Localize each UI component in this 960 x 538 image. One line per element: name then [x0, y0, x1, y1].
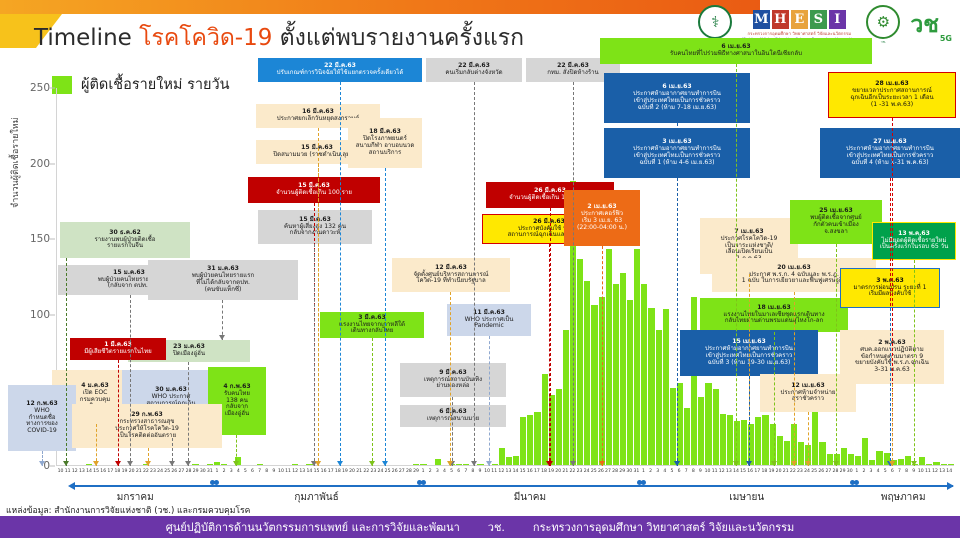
- event-box-e36[interactable]: 27 เม.ย.63ประกาศห้ามอากาศยานทำการบินเข้า…: [820, 128, 960, 178]
- x-tick-label: 11: [285, 469, 292, 480]
- x-tick-label: 27: [825, 469, 832, 480]
- x-tick-label: 22: [363, 469, 370, 480]
- x-tick-label: 1: [420, 469, 427, 480]
- x-tick-label: 8: [263, 469, 270, 480]
- event-box-e21[interactable]: 22 มี.ค.63ปรับเกณฑ์การวินิจฉัยให้ใช้แยกต…: [258, 58, 422, 82]
- x-tick-label: 27: [398, 469, 405, 480]
- month-divider-dot: [421, 480, 426, 485]
- event-connector-line: [677, 178, 678, 466]
- x-tick-label: 16: [747, 469, 754, 480]
- event-box-e11[interactable]: 3 มี.ค.63แรงงานไทยจากเกาหลีใต้เดินทางกลั…: [320, 312, 424, 338]
- x-tick-label: 28: [405, 469, 412, 480]
- event-box-e35[interactable]: 28 เม.ย.63ขยายเวลาประกาศสถานการณ์ฉุกเฉิน…: [828, 72, 956, 118]
- y-tick-mark-250: [49, 88, 55, 89]
- event-connector-line: [385, 168, 386, 466]
- x-tick-label: 15: [313, 469, 320, 480]
- x-tick-label: 22: [142, 469, 149, 480]
- x-tick-label: 14: [306, 469, 313, 480]
- bar: [563, 330, 569, 465]
- event-connector-arrow: [115, 461, 121, 466]
- x-tick-label: 25: [811, 469, 818, 480]
- x-tick-label: 31: [206, 469, 213, 480]
- x-tick-label: 11: [491, 469, 498, 480]
- x-tick-label: 23: [149, 469, 156, 480]
- event-box-e37[interactable]: 25 เม.ย.63พบผู้ติดเชื้อจากศูนย์กักตัวคนเ…: [790, 200, 882, 244]
- x-tick-label: 20: [128, 469, 135, 480]
- event-connector-line: [66, 258, 67, 466]
- event-box-e13[interactable]: 9 มี.ค.63เหตุการณ์สถานบันเทิงย่านทองหล่อ: [400, 363, 506, 397]
- event-connector-line: [318, 128, 319, 466]
- event-connector-line: [474, 82, 475, 466]
- bar: [627, 300, 633, 465]
- x-tick-label: 14: [85, 469, 92, 480]
- x-tick-label: 8: [690, 469, 697, 480]
- x-tick-label: 22: [789, 469, 796, 480]
- event-box-e14[interactable]: 11 มี.ค.63WHO ประกาศเป็นPandemic: [447, 304, 531, 336]
- event-box-e16[interactable]: 15 มี.ค.63จำนวนผู้ติดเชื้อเกิน 100 ราย: [248, 177, 380, 203]
- bar: [784, 441, 790, 465]
- footer-right-text: กระทรวงการอุดมศึกษา วิทยาศาสตร์ วิจัยและ…: [533, 518, 794, 536]
- x-tick-label: 7: [462, 469, 469, 480]
- x-tick-label: 14: [512, 469, 519, 480]
- x-tick-label: 13: [299, 469, 306, 480]
- x-tick-label: 14: [732, 469, 739, 480]
- bar: [713, 389, 719, 465]
- x-tick-label: 12: [498, 469, 505, 480]
- event-connector-arrow: [746, 461, 752, 466]
- x-tick-label: 25: [590, 469, 597, 480]
- bar: [513, 456, 519, 465]
- header-accent-bar-orange: [0, 0, 760, 14]
- event-connector-arrow: [93, 461, 99, 466]
- bar: [876, 451, 882, 465]
- x-tick-label: 6: [676, 469, 683, 480]
- x-tick-label: 20: [348, 469, 355, 480]
- bar: [684, 408, 690, 465]
- event-connector-line: [602, 246, 603, 466]
- bar: [520, 417, 526, 465]
- title-highlight: โรคโควิด-19: [139, 25, 272, 51]
- y-tick-mark-200: [49, 163, 55, 164]
- bar: [648, 308, 654, 465]
- bar: [862, 438, 868, 465]
- event-box-e26[interactable]: 2 เม.ย.63ประกาศเคอร์ฟิวเริ่ม 3 เม.ย. 63(…: [564, 190, 640, 246]
- bar: [941, 464, 947, 466]
- event-box-e20[interactable]: 18 มี.ค.63ปิดโรงภาพยนตร์สนามกีฬา อาบอบนว…: [348, 118, 422, 168]
- event-box-e28[interactable]: 6 เม.ย.63ประกาศห้ามอากาศยานทำการบินเข้าส…: [604, 73, 750, 123]
- event-connector-arrow: [185, 461, 191, 466]
- x-tick-label: 28: [185, 469, 192, 480]
- y-tick-mark-100: [49, 314, 55, 315]
- event-connector-line: [452, 397, 453, 466]
- bar: [413, 464, 419, 466]
- event-text: ย่านทองหล่อ: [403, 383, 503, 390]
- bar: [257, 464, 263, 466]
- x-tick-label: 21: [356, 469, 363, 480]
- mhesi-letter-h: H: [772, 10, 789, 29]
- bar: [192, 464, 198, 466]
- x-tick-label: 19: [548, 469, 555, 480]
- x-tick-label: 29: [839, 469, 846, 480]
- bar: [534, 412, 540, 465]
- event-connector-line: [736, 64, 737, 466]
- x-tick-label: 27: [178, 469, 185, 480]
- x-tick-label: 2: [647, 469, 654, 480]
- x-tick-label: 25: [164, 469, 171, 480]
- x-tick-label: 21: [562, 469, 569, 480]
- event-connector-line: [892, 384, 893, 466]
- event-text: COVID-19: [11, 428, 73, 435]
- bar: [663, 309, 669, 465]
- y-tick-200: 200: [30, 158, 50, 170]
- bar: [86, 464, 92, 466]
- event-connector-arrow: [233, 461, 239, 466]
- event-connector-arrow: [127, 461, 133, 466]
- event-connector-arrow: [145, 461, 151, 466]
- event-connector-arrow: [337, 461, 343, 466]
- bar: [420, 464, 426, 466]
- x-tick-label: 12: [718, 469, 725, 480]
- x-tick-label: 3: [867, 469, 874, 480]
- y-tick-mark-150: [49, 239, 55, 240]
- month-label-2: มีนาคม: [514, 490, 546, 505]
- event-connector-line: [96, 424, 97, 466]
- event-connector-arrow: [486, 461, 492, 466]
- x-tick-label: 29: [619, 469, 626, 480]
- x-tick-label: 15: [740, 469, 747, 480]
- bar: [741, 420, 747, 465]
- y-tick-250: 250: [30, 82, 50, 94]
- event-connector-line: [808, 412, 809, 466]
- x-tick-label: 23: [370, 469, 377, 480]
- x-tick-label: 9: [697, 469, 704, 480]
- x-tick-label: 12: [931, 469, 938, 480]
- x-tick-label: 29: [412, 469, 419, 480]
- bar: [527, 415, 533, 465]
- x-tick-label: 5: [242, 469, 249, 480]
- event-text: จำนวนผู้ติดเชื้อเกิน 100 ราย: [251, 190, 377, 197]
- bar: [620, 273, 626, 465]
- x-tick-label: 13: [78, 469, 85, 480]
- bar: [819, 442, 825, 465]
- x-axis-month-axis: มกราคมกุมภาพันธ์มีนาคมเมษายนพฤษภาคม: [57, 481, 953, 503]
- month-axis-arrow: [75, 485, 953, 487]
- bar: [933, 462, 939, 465]
- x-axis-day-labels: 1011121314151617181920212223242526272829…: [57, 469, 953, 480]
- event-text: จ.สงขลา: [793, 229, 879, 236]
- x-tick-label: 11: [924, 469, 931, 480]
- bar: [720, 414, 726, 465]
- event-connector-arrow: [447, 461, 453, 466]
- x-tick-label: 17: [533, 469, 540, 480]
- event-box-e27[interactable]: 6 เม.ย.63รับคนไทยที่ไปร่วมพิธีทางศาสนาใน…: [600, 38, 872, 64]
- x-tick-label: 18: [540, 469, 547, 480]
- event-connector-arrow: [599, 461, 605, 466]
- bar: [542, 374, 548, 465]
- bar: [869, 460, 875, 465]
- event-box-e1[interactable]: 30 ธ.ค.62รายงานพบผู้ป่วยติดเชื้อรายแรกใน…: [60, 222, 190, 258]
- x-tick-label: 2: [221, 469, 228, 480]
- bar: [456, 464, 462, 466]
- x-tick-label: 5: [668, 469, 675, 480]
- event-connector-arrow: [570, 461, 576, 466]
- x-tick-label: 26: [391, 469, 398, 480]
- event-text: Pandemic: [450, 323, 528, 330]
- event-connector-arrow: [382, 461, 388, 466]
- x-tick-label: 10: [277, 469, 284, 480]
- event-connector-arrow: [169, 461, 175, 466]
- event-text: เป็นครั้งแรกในรอบ 65 วัน: [876, 244, 952, 251]
- event-box-e3[interactable]: 31 ม.ค.63พบผู้ป่วยคนไทยรายแรกที่ไม่ได้กล…: [148, 260, 298, 300]
- event-text: (22:00-04:00 น.): [567, 225, 637, 232]
- x-tick-label: 15: [519, 469, 526, 480]
- event-text: กลับจากงานดาวะห์: [261, 230, 369, 237]
- event-connector-arrow: [471, 461, 477, 466]
- x-tick-label: 12: [71, 469, 78, 480]
- x-tick-label: 21: [782, 469, 789, 480]
- bar: [506, 457, 512, 465]
- x-tick-label: 19: [121, 469, 128, 480]
- event-text: สุราชั่วคราว: [763, 396, 853, 403]
- x-tick-label: 3: [228, 469, 235, 480]
- x-tick-label: 9: [270, 469, 277, 480]
- bar: [556, 389, 562, 465]
- x-tick-label: 30: [199, 469, 206, 480]
- event-connector-line: [774, 332, 775, 466]
- bar: [848, 454, 854, 465]
- event-connector-arrow: [369, 461, 375, 466]
- event-text: คนเริ่มกลับต่างจังหวัด: [429, 70, 519, 77]
- bar: [214, 462, 220, 465]
- bar: [755, 417, 761, 465]
- x-tick-label: 1: [853, 469, 860, 480]
- x-tick-label: 18: [761, 469, 768, 480]
- nrct-emblem-icon: ⚙: [866, 5, 900, 39]
- event-connector-line: [314, 244, 315, 466]
- bar: [221, 464, 227, 466]
- footer-left-text: ศูนย์ปฏิบัติการด้านนวัตกรรมการแพทย์ และก…: [166, 518, 460, 536]
- x-tick-label: 4: [235, 469, 242, 480]
- bar: [827, 454, 833, 465]
- event-box-e32[interactable]: 18 เม.ย.63แรงงานไทยในมาเลเซียชุดแรกเดินท…: [700, 298, 848, 332]
- bar: [492, 464, 498, 466]
- x-tick-label: 28: [612, 469, 619, 480]
- x-tick-label: 1: [213, 469, 220, 480]
- x-tick-label: 5: [882, 469, 889, 480]
- event-connector-arrow: [733, 461, 739, 466]
- bar: [777, 436, 783, 465]
- event-connector-line: [340, 82, 341, 466]
- bar: [841, 448, 847, 465]
- event-box-e9[interactable]: 29 ก.พ.63กระทรวงสาธารณสุขประกาศให้โรคโคว…: [72, 404, 222, 448]
- x-tick-label: 9: [910, 469, 917, 480]
- x-tick-label: 15: [93, 469, 100, 480]
- event-text: กลับไทยผ่านด่านพรมแดนสุไหงโก-ลก: [703, 318, 845, 325]
- mhesi-letter-m: M: [753, 10, 770, 29]
- x-tick-label: 1: [640, 469, 647, 480]
- event-connector-line: [118, 360, 119, 466]
- event-connector-line: [794, 292, 795, 466]
- event-connector-line: [222, 300, 223, 340]
- event-box-e22[interactable]: 22 มี.ค.63คนเริ่มกลับต่างจังหวัด: [426, 58, 522, 82]
- bar: [705, 383, 711, 465]
- bar: [584, 281, 590, 465]
- month-label-1: กุมภาพันธ์: [294, 490, 338, 505]
- event-connector-arrow: [674, 461, 680, 466]
- x-tick-label: 26: [818, 469, 825, 480]
- x-tick-label: 18: [114, 469, 121, 480]
- x-tick-label: 16: [100, 469, 107, 480]
- event-text: ฉบับที่ 4 (ห้าม 1-31 พ.ค.63): [823, 160, 957, 167]
- x-tick-label: 24: [377, 469, 384, 480]
- x-tick-label: 3: [434, 469, 441, 480]
- x-tick-label: 13: [725, 469, 732, 480]
- x-tick-label: 22: [569, 469, 576, 480]
- event-connector-line: [749, 376, 750, 466]
- x-tick-label: 21: [135, 469, 142, 480]
- event-connector-arrow: [219, 335, 225, 340]
- event-text: มีผู้เสียชีวิตรายแรกในไทย: [73, 349, 163, 356]
- bar: [292, 464, 298, 466]
- x-tick-label: 6: [249, 469, 256, 480]
- bar: [499, 448, 505, 465]
- x-tick-label: 24: [803, 469, 810, 480]
- x-tick-label: 9: [476, 469, 483, 480]
- x-tick-label: 10: [57, 469, 64, 480]
- x-tick-label: 11: [711, 469, 718, 480]
- x-tick-label: 6: [889, 469, 896, 480]
- x-tick-label: 28: [832, 469, 839, 480]
- event-connector-line: [550, 208, 551, 466]
- x-tick-label: 13: [939, 469, 946, 480]
- x-tick-label: 10: [704, 469, 711, 480]
- bar: [798, 442, 804, 465]
- x-tick-label: 17: [327, 469, 334, 480]
- event-box-e12[interactable]: 6 มี.ค.63เหตุการณ์สนามมวย: [400, 405, 506, 427]
- mhesi-letter-e: E: [791, 10, 808, 29]
- event-connector-line: [914, 260, 915, 466]
- footer-bar: ศูนย์ปฏิบัติการด้านนวัตกรรมการแพทย์ และก…: [0, 516, 960, 538]
- bar: [919, 457, 925, 465]
- x-tick-label: 7: [683, 469, 690, 480]
- x-tick-label: 18: [334, 469, 341, 480]
- page-title: Timeline โรคโควิด-19 ตั้งแต่พบรายงานครั้…: [34, 20, 524, 56]
- x-tick-label: 30: [846, 469, 853, 480]
- x-tick-label: 31: [633, 469, 640, 480]
- nrct-logo-caption: วช.: [881, 40, 886, 45]
- x-tick-label: 24: [583, 469, 590, 480]
- event-box-e17[interactable]: 15 มี.ค.63ค้นหาผู้เสี่ยงสูง 132 คนกลับจา…: [258, 210, 372, 244]
- bar: [634, 249, 640, 465]
- bar: [591, 305, 597, 465]
- x-tick-label: 26: [171, 469, 178, 480]
- event-connector-line: [130, 295, 131, 466]
- event-box-e15[interactable]: 12 มี.ค.63จัดตั้งศูนย์บริหารสถานการณ์โคว…: [392, 258, 510, 292]
- bar: [762, 415, 768, 465]
- source-note: แหล่งข้อมูล: สำนักงานการวิจัยแห่งชาติ (ว…: [6, 503, 250, 517]
- x-tick-label: 20: [775, 469, 782, 480]
- x-tick-label: 30: [626, 469, 633, 480]
- event-connector-line: [890, 308, 891, 466]
- vch-5g-logo: วช 5G: [910, 7, 952, 43]
- month-label-3: เมษายน: [729, 490, 764, 505]
- bar: [606, 249, 612, 465]
- bar: [698, 397, 704, 465]
- event-text: สถานบริการ: [351, 150, 419, 157]
- event-connector-line: [188, 362, 189, 466]
- x-tick-label: 23: [576, 469, 583, 480]
- x-tick-label: 19: [341, 469, 348, 480]
- event-connector-line: [573, 82, 574, 466]
- event-box-e10[interactable]: 1 มี.ค.63มีผู้เสียชีวิตรายแรกในไทย: [70, 338, 166, 360]
- vch-mark: วช: [910, 7, 939, 43]
- x-tick-label: 12: [292, 469, 299, 480]
- bar: [463, 464, 469, 466]
- bar: [207, 464, 213, 466]
- event-text: เดินทางกลับไทย: [323, 328, 421, 335]
- moph-emblem-icon: ⚕: [698, 5, 732, 39]
- x-tick-label: 17: [107, 469, 114, 480]
- event-connector-arrow: [63, 461, 69, 466]
- event-box-e38[interactable]: 13 พ.ค.63ไม่มียอดผู้ติดเชื้อรายใหม่เป็นค…: [872, 222, 956, 260]
- event-connector-line: [836, 244, 837, 466]
- bar: [926, 464, 932, 466]
- event-connector-arrow: [791, 461, 797, 466]
- y-tick-100: 100: [30, 309, 50, 321]
- event-connector-arrow: [805, 461, 811, 466]
- x-tick-label: 8: [903, 469, 910, 480]
- vch-5g-badge: 5G: [940, 34, 952, 43]
- mhesi-logo: M H E S I กระทรวงการอุดมศึกษา วิทยาศาสตร…: [742, 10, 856, 41]
- x-tick-label: 19: [768, 469, 775, 480]
- event-connector-line: [450, 292, 451, 466]
- x-tick-label: 6: [455, 469, 462, 480]
- x-tick-label: 10: [484, 469, 491, 480]
- bar: [435, 459, 441, 465]
- bar: [613, 284, 619, 465]
- title-prefix: Timeline: [34, 25, 139, 51]
- x-tick-label: 25: [384, 469, 391, 480]
- y-axis-label: จำนวนผู้ติดเชื้อรายใหม่: [8, 117, 22, 208]
- event-connector-line: [372, 338, 373, 466]
- title-suffix: ตั้งแต่พบรายงานครั้งแรก: [272, 25, 524, 51]
- event-connector-arrow: [771, 461, 777, 466]
- bar: [477, 464, 483, 466]
- footer-mid-text: วช.: [488, 518, 505, 536]
- event-connector-arrow: [39, 461, 45, 466]
- bar: [727, 415, 733, 465]
- bar: [898, 459, 904, 465]
- x-tick-label: 13: [505, 469, 512, 480]
- x-tick-label: 2: [427, 469, 434, 480]
- x-tick-label: 16: [320, 469, 327, 480]
- x-tick-label: 20: [555, 469, 562, 480]
- x-tick-label: 4: [441, 469, 448, 480]
- event-connector-arrow: [315, 461, 321, 466]
- mhesi-letter-s: S: [810, 10, 827, 29]
- x-tick-label: 5: [448, 469, 455, 480]
- x-tick-label: 24: [157, 469, 164, 480]
- x-tick-label: 2: [860, 469, 867, 480]
- event-text: เหตุการณ์สนามมวย: [403, 416, 503, 423]
- x-tick-label: 17: [754, 469, 761, 480]
- event-connector-arrow: [546, 461, 552, 466]
- y-tick-150: 150: [30, 233, 50, 245]
- mhesi-subtitle-th: กระทรวงการอุดมศึกษา วิทยาศาสตร์ วิจัยและ…: [748, 30, 852, 37]
- x-tick-label: 3: [654, 469, 661, 480]
- event-connector-line: [549, 244, 550, 466]
- x-tick-label: 7: [256, 469, 263, 480]
